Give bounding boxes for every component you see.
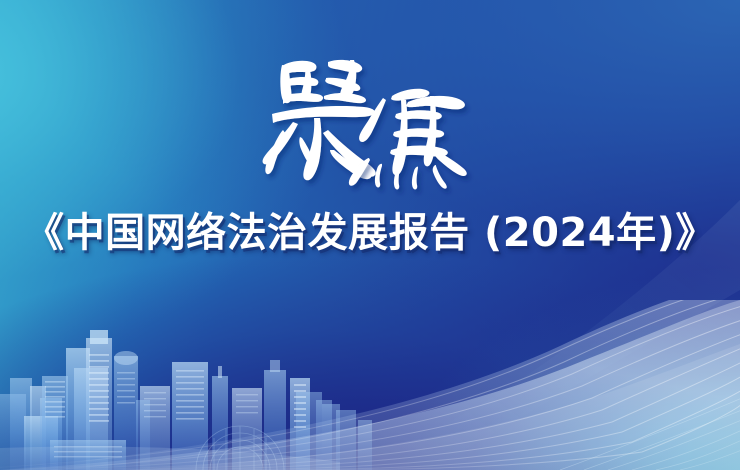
background-vignette bbox=[0, 0, 740, 470]
poster-banner: 《中国网络法治发展报告 (2024年)》 bbox=[0, 0, 740, 470]
